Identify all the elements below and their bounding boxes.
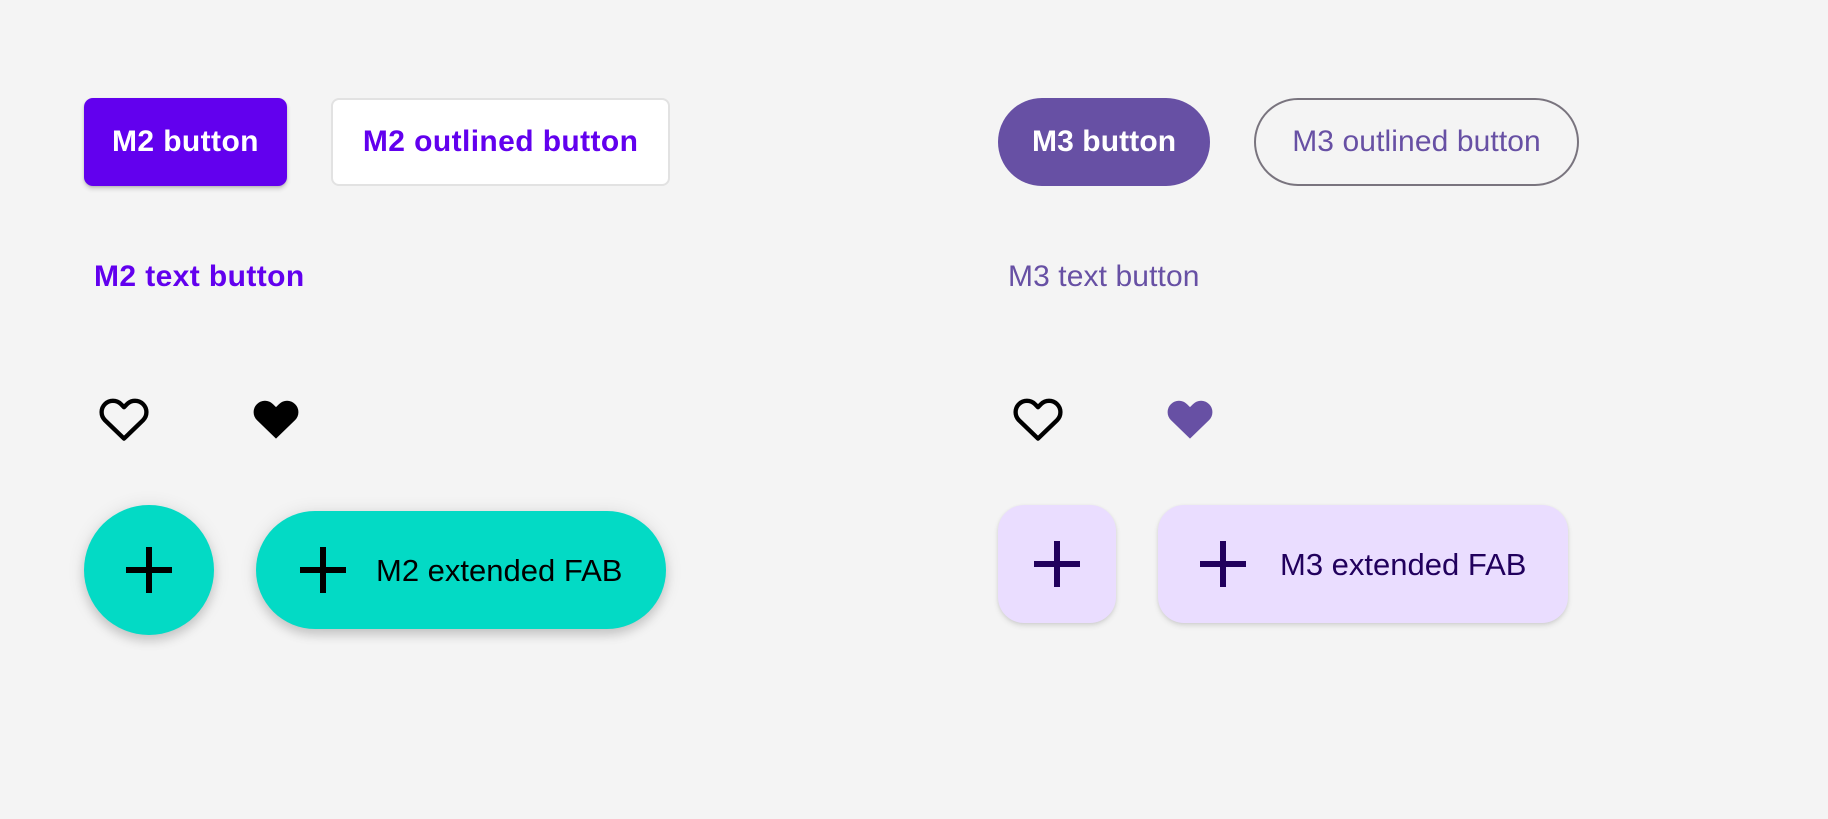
plus-icon (1034, 541, 1080, 587)
plus-icon (300, 547, 346, 593)
m2-heart-filled-button[interactable] (248, 390, 304, 446)
m2-column: M2 button M2 outlined button M2 text but… (0, 0, 914, 819)
m3-text-button-row: M3 text button (998, 252, 1210, 302)
m3-fab-row: M3 extended FAB (998, 505, 1568, 623)
m2-fab-row: M2 extended FAB (84, 505, 666, 635)
m3-button-row: M3 button M3 outlined button (998, 98, 1579, 186)
comparison-canvas: M2 button M2 outlined button M2 text but… (0, 0, 1828, 819)
m2-button-row: M2 button M2 outlined button (84, 98, 670, 186)
heart-outline-icon (1012, 392, 1064, 444)
plus-icon (1200, 541, 1246, 587)
m2-text-button[interactable]: M2 text button (84, 252, 315, 302)
m3-text-button[interactable]: M3 text button (998, 252, 1210, 302)
m3-fab[interactable] (998, 505, 1116, 623)
m3-filled-button[interactable]: M3 button (998, 98, 1210, 186)
m3-heart-filled-button[interactable] (1162, 390, 1218, 446)
m2-outlined-button[interactable]: M2 outlined button (331, 98, 670, 186)
heart-filled-icon (250, 392, 302, 444)
m2-extended-fab[interactable]: M2 extended FAB (256, 511, 666, 629)
m2-icon-row (96, 390, 304, 446)
m3-outlined-button[interactable]: M3 outlined button (1254, 98, 1579, 186)
heart-filled-icon (1164, 392, 1216, 444)
m2-heart-outline-button[interactable] (96, 390, 152, 446)
m2-extended-fab-label: M2 extended FAB (376, 555, 622, 586)
heart-outline-icon (98, 392, 150, 444)
m3-heart-outline-button[interactable] (1010, 390, 1066, 446)
m2-text-button-row: M2 text button (84, 252, 315, 302)
plus-icon (126, 547, 172, 593)
m3-extended-fab-label: M3 extended FAB (1280, 549, 1526, 580)
m3-column: M3 button M3 outlined button M3 text but… (914, 0, 1828, 819)
m2-filled-button[interactable]: M2 button (84, 98, 287, 186)
m2-fab[interactable] (84, 505, 214, 635)
m3-extended-fab[interactable]: M3 extended FAB (1158, 505, 1568, 623)
m3-icon-row (1010, 390, 1218, 446)
